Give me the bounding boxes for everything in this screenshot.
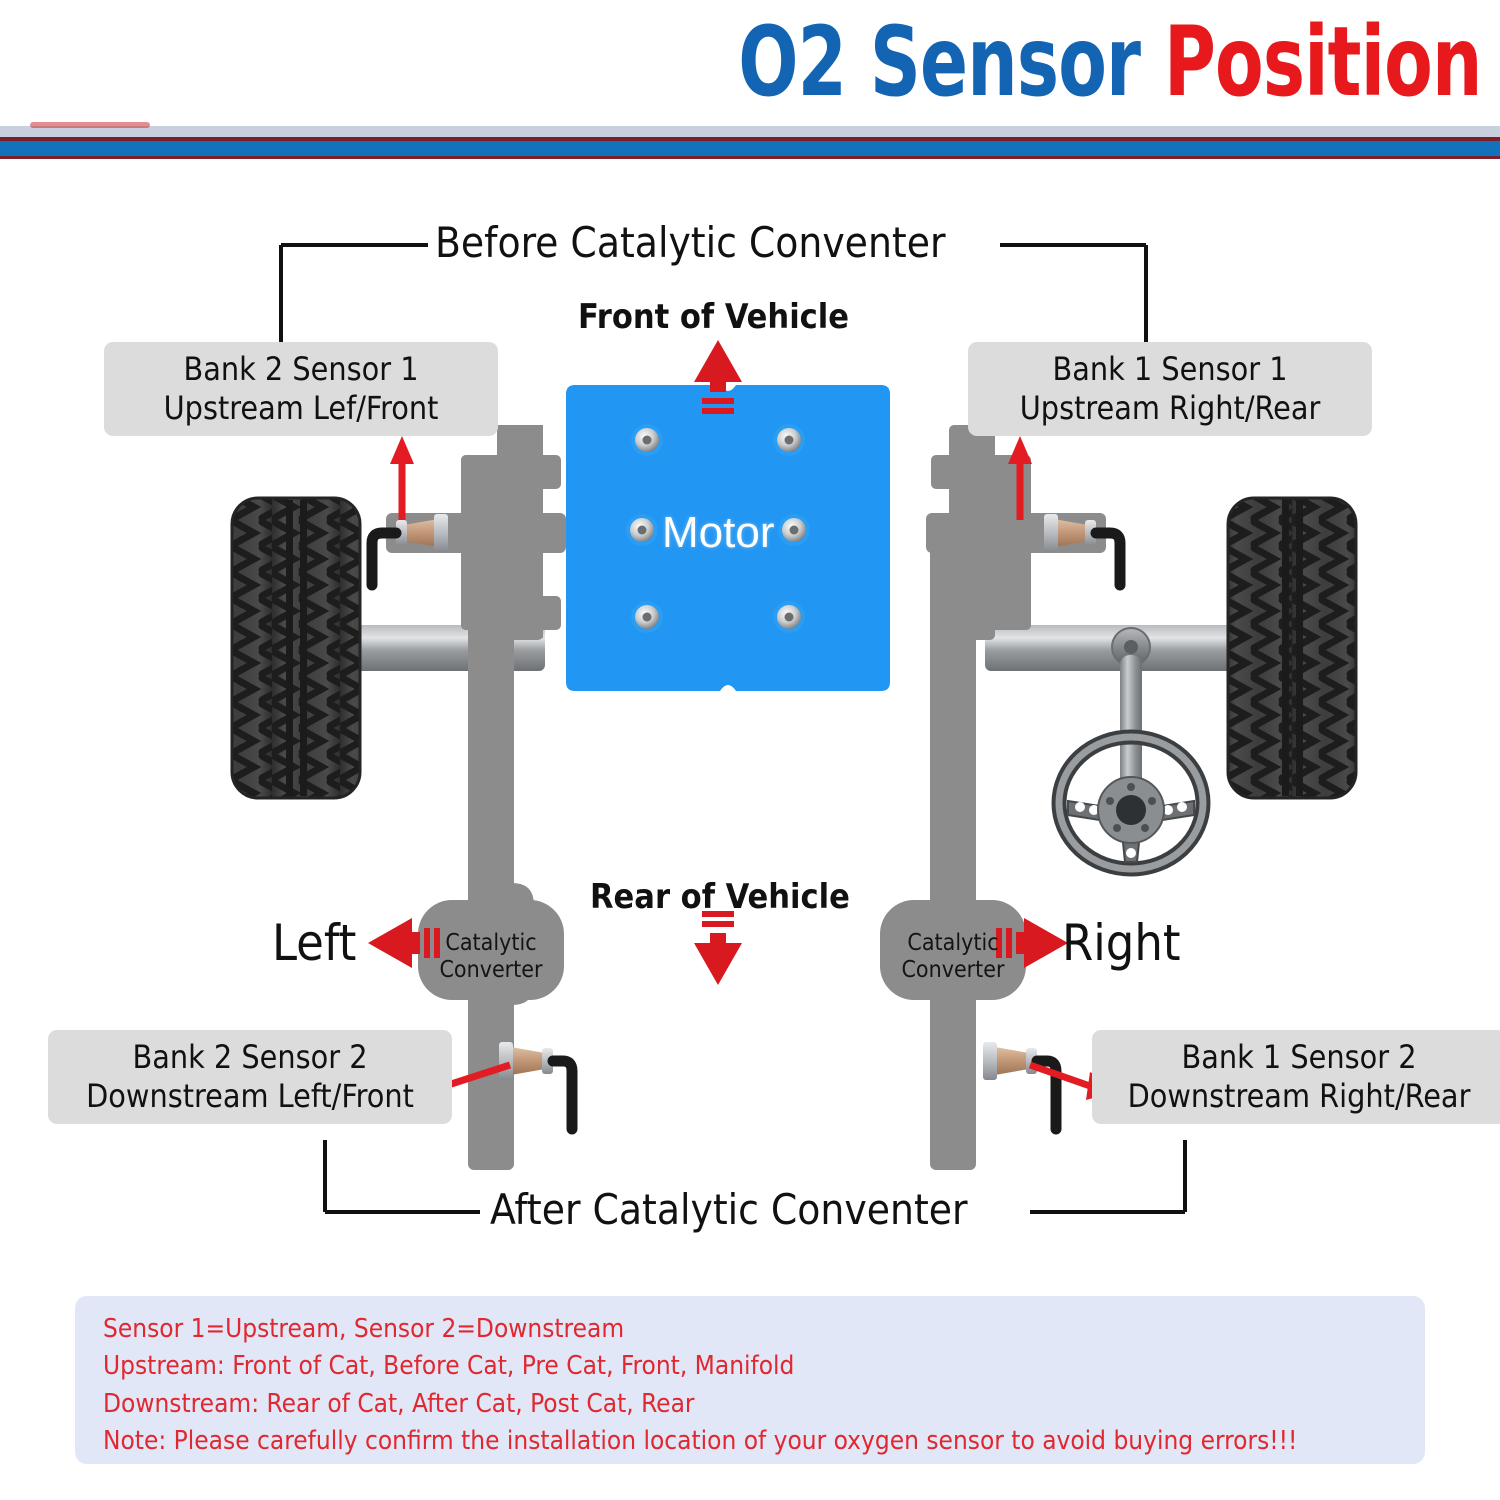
legend-note-box: Sensor 1=Upstream, Sensor 2=Downstream U… xyxy=(75,1296,1425,1464)
cat-left-line1: Catalytic xyxy=(445,930,536,956)
rear-axle-left xyxy=(330,625,545,671)
callout-bank1-sensor1: Bank 1 Sensor 1 Upstream Right/Rear xyxy=(968,342,1372,436)
diagram-page: O2 Sensor Position xyxy=(0,0,1500,1500)
title-part-blue: O2 Sensor xyxy=(739,6,1141,118)
arrow-front-up xyxy=(694,340,742,414)
callout-bank2-sensor1-line2: Upstream Lef/Front xyxy=(120,389,482,428)
page-title: O2 Sensor Position xyxy=(739,14,1482,110)
front-axle-right xyxy=(985,625,1255,815)
motor-label: Motor xyxy=(662,508,774,558)
page-header: O2 Sensor Position xyxy=(0,0,1500,160)
o2-sensor-upstream-right xyxy=(1044,514,1120,585)
band-red-bottom xyxy=(0,156,1500,159)
title-part-red: Position xyxy=(1141,6,1482,118)
o2-sensor-downstream-right xyxy=(983,1042,1056,1129)
front-of-vehicle-label: Front of Vehicle xyxy=(578,297,849,337)
arrow-rear-down xyxy=(694,911,742,985)
note-line-3: Downstream: Rear of Cat, After Cat, Post… xyxy=(103,1387,1397,1421)
note-line-4: Note: Please carefully confirm the insta… xyxy=(103,1424,1397,1458)
rear-of-vehicle-label: Rear of Vehicle xyxy=(590,877,850,917)
catalytic-converter-right-label: Catalytic Converter xyxy=(886,930,1020,984)
band-blue-bar xyxy=(0,141,1500,156)
callout-bank2-sensor2-line2: Downstream Left/Front xyxy=(64,1077,436,1116)
note-line-1: Sensor 1=Upstream, Sensor 2=Downstream xyxy=(103,1312,1397,1346)
callout-bank2-sensor1-line1: Bank 2 Sensor 1 xyxy=(120,350,482,389)
callout-bank1-sensor1-line1: Bank 1 Sensor 1 xyxy=(984,350,1356,389)
steering-wheel xyxy=(1059,737,1203,869)
callout-bank1-sensor1-line2: Upstream Right/Rear xyxy=(984,389,1356,428)
callout-bank1-sensor2: Bank 1 Sensor 2 Downstream Right/Rear xyxy=(1092,1030,1500,1124)
arrow-to-upstream-right-sensor xyxy=(1008,436,1032,520)
right-side-label: Right xyxy=(1062,914,1180,972)
arrow-to-upstream-left-sensor xyxy=(390,436,414,520)
note-line-2: Upstream: Front of Cat, Before Cat, Pre … xyxy=(103,1349,1397,1383)
header-band xyxy=(0,126,1500,160)
cat-right-line1: Catalytic xyxy=(907,930,998,956)
after-cat-bracket-label: After Catalytic Conventer xyxy=(490,1185,968,1234)
callout-bank1-sensor2-line1: Bank 1 Sensor 2 xyxy=(1108,1038,1490,1077)
o2-sensor-downstream-left xyxy=(499,1042,572,1129)
o2-sensor-upstream-left xyxy=(372,514,448,585)
left-side-label: Left xyxy=(272,914,356,972)
catalytic-converter-left-label: Catalytic Converter xyxy=(424,930,558,984)
band-gray-strip xyxy=(0,126,1500,137)
callout-bank2-sensor2-line1: Bank 2 Sensor 2 xyxy=(64,1038,436,1077)
before-cat-bracket-label: Before Catalytic Conventer xyxy=(435,218,945,267)
tire-right xyxy=(1228,498,1356,798)
callout-bank2-sensor2: Bank 2 Sensor 2 Downstream Left/Front xyxy=(48,1030,452,1124)
cat-left-line2: Converter xyxy=(439,957,542,983)
cat-right-line2: Converter xyxy=(901,957,1004,983)
callout-bank2-sensor1: Bank 2 Sensor 1 Upstream Lef/Front xyxy=(104,342,498,436)
tire-left xyxy=(232,498,360,798)
callout-bank1-sensor2-line2: Downstream Right/Rear xyxy=(1108,1077,1490,1116)
